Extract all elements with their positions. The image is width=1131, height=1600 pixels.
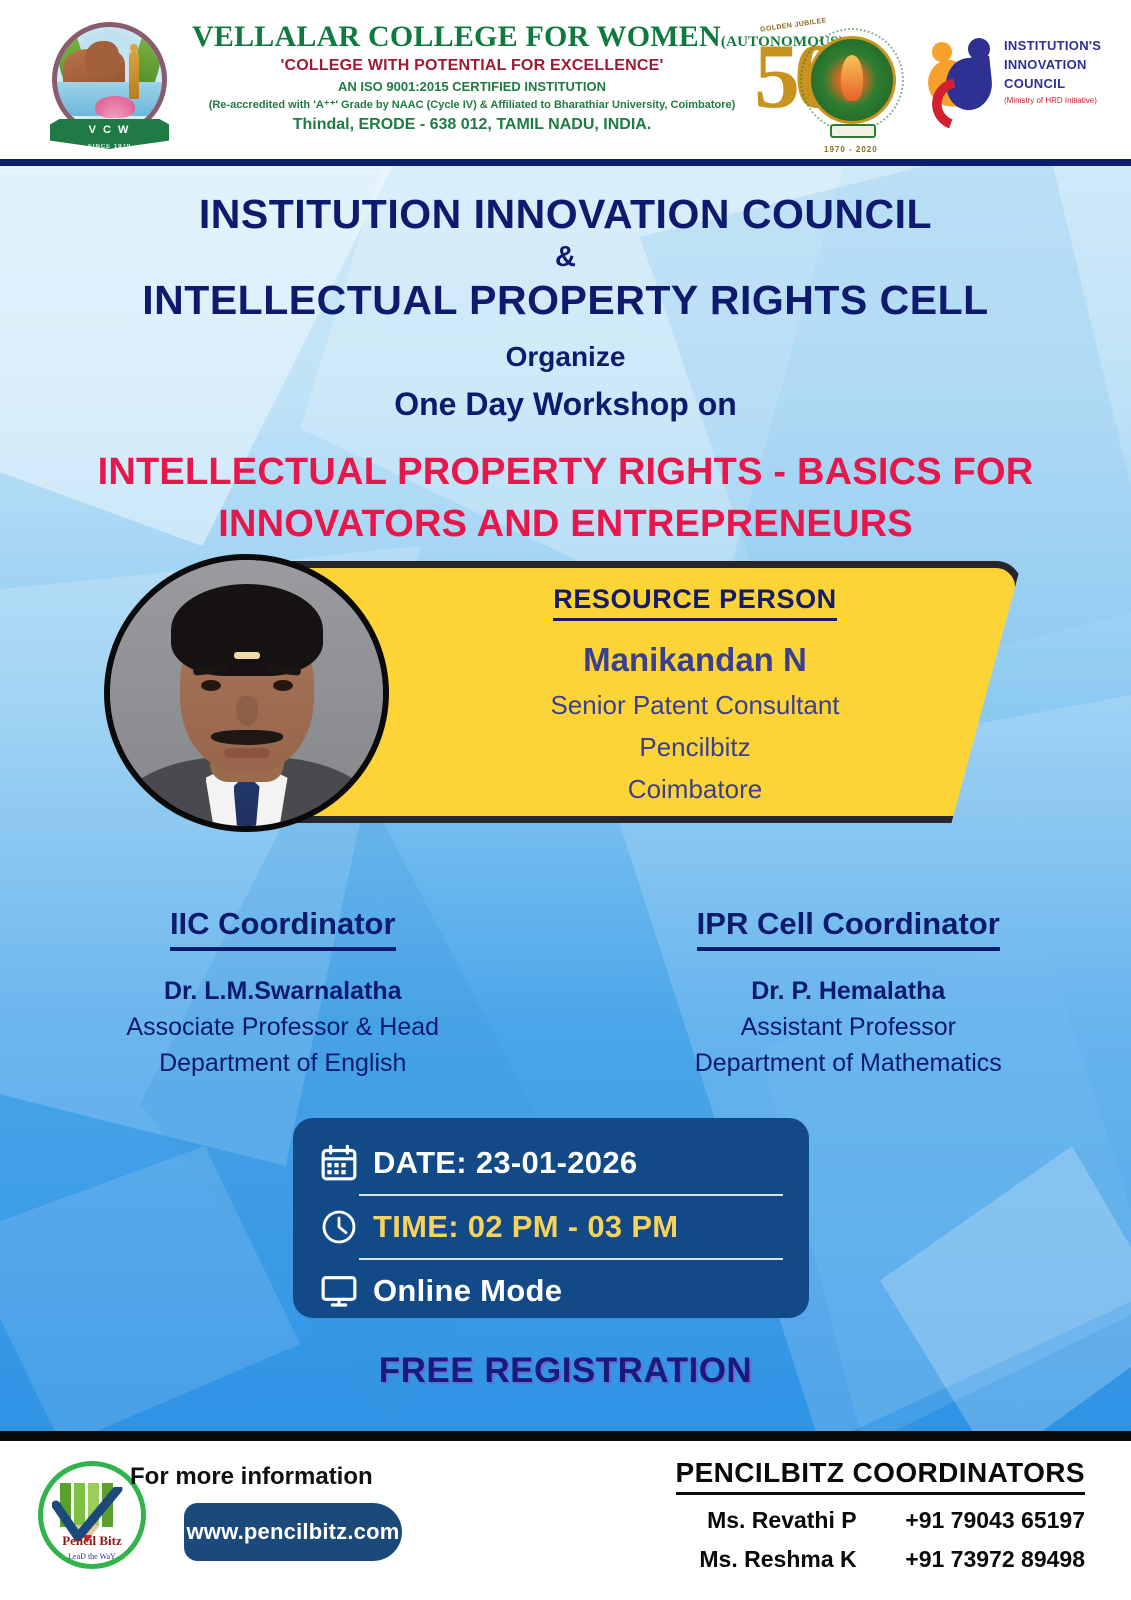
pencilbitz-logo-tagline: LeaD the WaY bbox=[38, 1552, 146, 1561]
coordinator-iic: IIC Coordinator Dr. L.M.Swarnalatha Asso… bbox=[0, 906, 566, 1078]
college-address: Thindal, ERODE - 638 012, TAMIL NADU, IN… bbox=[192, 116, 752, 134]
detail-row-mode: Online Mode bbox=[319, 1260, 783, 1322]
resource-person-designation: Senior Patent Consultant bbox=[435, 690, 955, 721]
detail-row-time: TIME: 02 PM - 03 PM bbox=[319, 1196, 783, 1258]
coordinator-name: Dr. P. Hemalatha bbox=[566, 977, 1131, 1006]
college-name-line: VELLALAR COLLEGE FOR WOMEN(AUTONOMOUS) bbox=[192, 20, 752, 54]
topic-line-1: INTELLECTUAL PROPERTY RIGHTS - BASICS FO… bbox=[0, 446, 1131, 498]
organizer-ampersand: & bbox=[0, 240, 1131, 274]
coordinator-role: IIC Coordinator bbox=[170, 906, 396, 951]
contact-phone[interactable]: +91 79043 65197 bbox=[863, 1507, 1085, 1534]
title-block: INSTITUTION INNOVATION COUNCIL & INTELLE… bbox=[0, 188, 1131, 550]
pencilbitz-coordinators-title: PENCILBITZ COORDINATORS bbox=[676, 1457, 1086, 1495]
accreditation-line: (Re-accredited with 'A⁺⁺' Grade by NAAC … bbox=[192, 98, 752, 111]
coordinators-section: IIC Coordinator Dr. L.M.Swarnalatha Asso… bbox=[0, 906, 1131, 1078]
contact-phone[interactable]: +91 73972 89498 bbox=[863, 1546, 1085, 1573]
vcw-college-seal-icon: V C W SINCE 1979 bbox=[42, 16, 177, 151]
resource-person-name: Manikandan N bbox=[435, 641, 955, 679]
event-mode: Online Mode bbox=[373, 1273, 562, 1309]
coordinator-ipr: IPR Cell Coordinator Dr. P. Hemalatha As… bbox=[566, 906, 1131, 1078]
contact-name: Ms. Revathi P bbox=[679, 1507, 857, 1534]
website-url: www.pencilbitz.com bbox=[186, 1519, 399, 1545]
topic-line-2: INNOVATORS AND ENTREPRENEURS bbox=[0, 498, 1131, 550]
monitor-icon bbox=[319, 1268, 373, 1314]
iic-emblem-icon bbox=[920, 32, 1000, 132]
iic-ministry-note: (Ministry of HRD Initiative) bbox=[1004, 96, 1101, 105]
organizer-line-1: INSTITUTION INNOVATION COUNCIL bbox=[0, 188, 1131, 240]
pencilbitz-coordinators: PENCILBITZ COORDINATORS Ms. Revathi P +9… bbox=[676, 1457, 1086, 1573]
coordinator-role: IPR Cell Coordinator bbox=[697, 906, 1000, 951]
free-registration-label: FREE REGISTRATION bbox=[0, 1351, 1131, 1391]
detail-row-date: DATE: 23-01-2026 bbox=[319, 1132, 783, 1194]
pencilbitz-logo-name: Pencil Bitz bbox=[38, 1533, 146, 1549]
resource-person-city: Coimbatore bbox=[435, 774, 955, 805]
coordinator-name: Dr. L.M.Swarnalatha bbox=[0, 977, 566, 1006]
event-date: DATE: 23-01-2026 bbox=[373, 1145, 637, 1181]
calendar-icon bbox=[319, 1140, 373, 1186]
resource-person-organization: Pencilbitz bbox=[435, 732, 955, 763]
golden-jubilee-logo-icon: GOLDEN JUBILEE 50 1970 - 2020 bbox=[752, 14, 904, 156]
organizer-line-2: INTELLECTUAL PROPERTY RIGHTS CELL bbox=[0, 274, 1131, 326]
coordinator-designation: Associate Professor & Head bbox=[0, 1013, 566, 1042]
seal-initials: V C W bbox=[89, 124, 131, 136]
resource-person-photo bbox=[104, 554, 389, 832]
poster-body: INSTITUTION INNOVATION COUNCIL & INTELLE… bbox=[0, 166, 1131, 1431]
contact-row: Ms. Revathi P +91 79043 65197 bbox=[676, 1507, 1086, 1534]
coordinator-department: Department of Mathematics bbox=[566, 1049, 1131, 1078]
coordinator-department: Department of English bbox=[0, 1049, 566, 1078]
clock-icon bbox=[319, 1204, 373, 1250]
seal-banner: V C W SINCE 1979 bbox=[50, 119, 169, 149]
iic-text-line3: COUNCIL bbox=[1004, 74, 1101, 93]
college-name: VELLALAR COLLEGE FOR WOMEN bbox=[192, 20, 721, 53]
poster-root: V C W SINCE 1979 VELLALAR COLLEGE FOR WO… bbox=[0, 0, 1131, 1600]
coordinator-designation: Assistant Professor bbox=[566, 1013, 1131, 1042]
event-time: TIME: 02 PM - 03 PM bbox=[373, 1209, 678, 1245]
website-link[interactable]: www.pencilbitz.com bbox=[184, 1503, 402, 1561]
contact-row: Ms. Reshma K +91 73972 89498 bbox=[676, 1546, 1086, 1573]
contact-name: Ms. Reshma K bbox=[679, 1546, 857, 1573]
more-information-label: For more information bbox=[130, 1463, 373, 1491]
seal-since: SINCE 1979 bbox=[50, 139, 169, 156]
poster-footer: Pencil Bitz LeaD the WaY For more inform… bbox=[0, 1441, 1131, 1600]
iic-text-line1: INSTITUTION'S bbox=[1004, 36, 1101, 55]
event-details-card: DATE: 23-01-2026 TIME: 02 PM - 03 PM bbox=[293, 1118, 809, 1318]
header-divider bbox=[0, 159, 1131, 166]
resource-person-heading: RESOURCE PERSON bbox=[553, 584, 837, 621]
iso-certification: AN ISO 9001:2015 CERTIFIED INSTITUTION bbox=[192, 79, 752, 94]
college-tagline: 'COLLEGE WITH POTENTIAL FOR EXCELLENCE' bbox=[192, 57, 752, 75]
institution-header: V C W SINCE 1979 VELLALAR COLLEGE FOR WO… bbox=[0, 0, 1131, 160]
header-text-block: VELLALAR COLLEGE FOR WOMEN(AUTONOMOUS) '… bbox=[192, 20, 752, 134]
iic-text-line2: INNOVATION bbox=[1004, 55, 1101, 74]
workshop-label: One Day Workshop on bbox=[0, 382, 1131, 426]
iic-logo: INSTITUTION'S INNOVATION COUNCIL (Minist… bbox=[916, 26, 1116, 148]
organize-label: Organize bbox=[0, 338, 1131, 376]
footer-divider bbox=[0, 1431, 1131, 1441]
jubilee-years: 1970 - 2020 bbox=[824, 145, 878, 154]
